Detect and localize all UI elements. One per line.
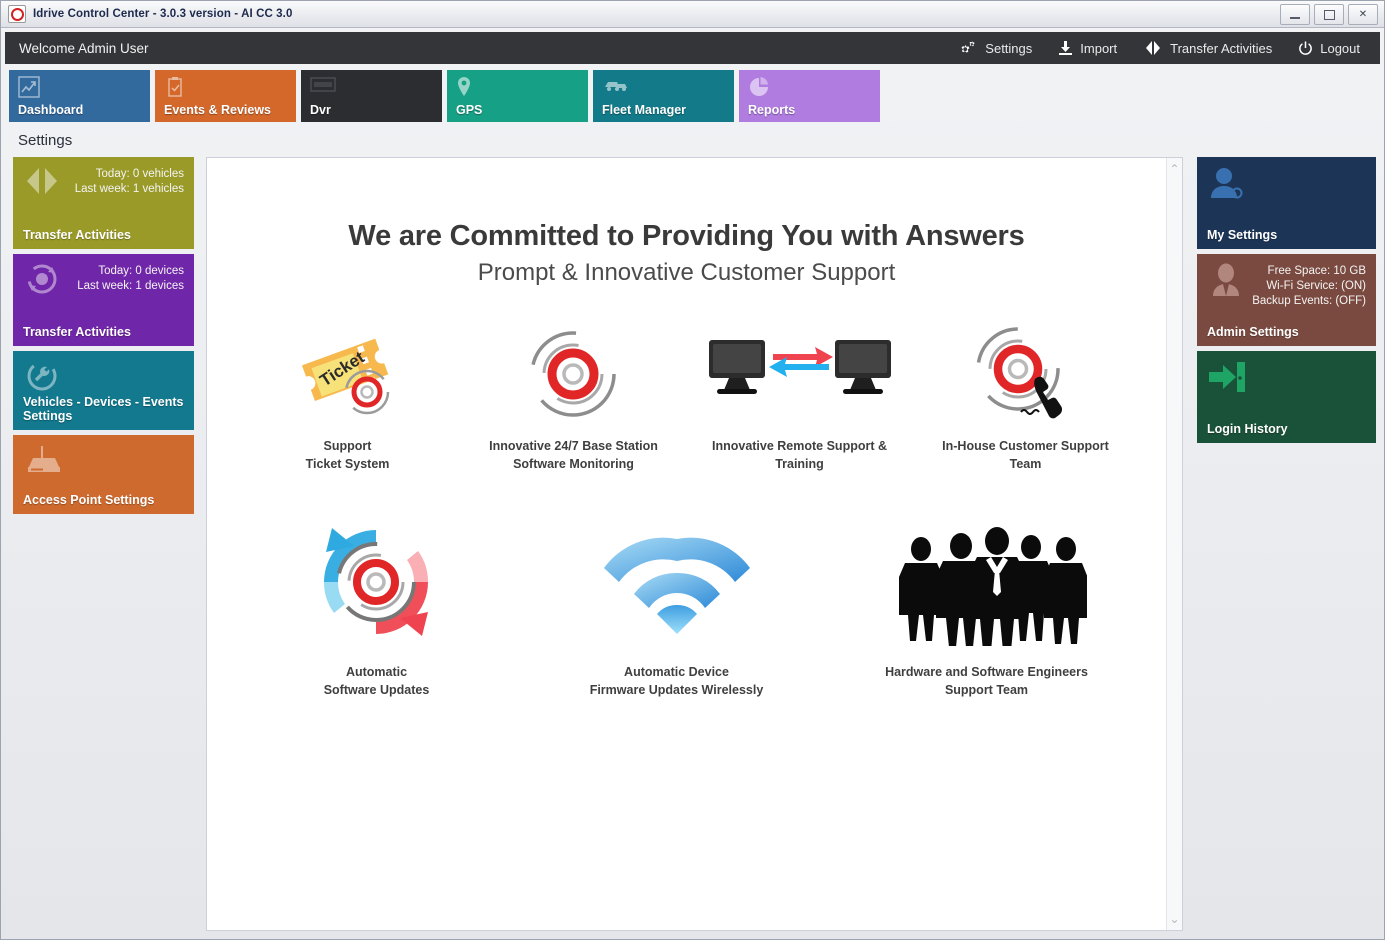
top-nav-transfer-label: Transfer Activities [1170,41,1272,56]
two-monitors-arrows-icon [691,321,909,427]
wrench-icon [23,359,61,398]
title-bar: Idrive Control Center - 3.0.3 version - … [1,1,1384,28]
welcome-label: Welcome Admin User [19,41,959,56]
feature-remote-support-training: Innovative Remote Support & Training [687,321,913,473]
vehicles-icon [602,76,734,98]
feature-caption: Automatic Software Updates [231,663,523,699]
admin-user-icon [1207,262,1245,303]
feature-base-station-monitoring: Innovative 24/7 Base Station Software Mo… [461,321,687,473]
feature-caption: In-House Customer Support Team [917,437,1135,473]
pie-chart-icon [748,76,880,98]
map-pin-icon [456,76,588,98]
target-rings-icon [465,321,683,427]
tab-reports[interactable]: Reports [739,70,880,122]
feature-grid: Ticket Support Ticket System [207,321,1166,699]
tab-events-reviews-label: Events & Reviews [164,103,271,117]
chevron-up-icon[interactable]: ⌃ [1169,164,1179,174]
top-nav-logout-label: Logout [1320,41,1360,56]
feature-support-ticket-system: Ticket Support Ticket System [235,321,461,473]
sidebar-item-transfer-activities-vehicles[interactable]: Today: 0 vehicles Last week: 1 vehicles … [13,157,194,249]
chart-line-icon [18,76,150,98]
feature-row-2: Automatic Software Updates [207,513,1166,699]
page-title: We are Committed to Providing You with A… [207,220,1166,253]
sidebar-item-label: Admin Settings [1207,325,1366,339]
main-content-panel: We are Committed to Providing You with A… [206,157,1183,931]
right-sidebar: My Settings Free Space: 10 GB Wi-Fi Serv… [1197,157,1376,931]
gears-icon [959,40,978,57]
window-title: Idrive Control Center - 3.0.3 version - … [33,8,292,20]
top-nav-import-label: Import [1080,41,1117,56]
sidebar-item-label: Transfer Activities [23,325,184,339]
feature-caption: Support Ticket System [239,437,457,473]
power-icon [1298,41,1313,56]
content-area: We are Committed to Providing You with A… [207,158,1166,930]
left-sidebar: Today: 0 vehicles Last week: 1 vehicles … [13,157,194,931]
login-arrow-icon [1207,359,1247,400]
sidebar-item-admin-settings[interactable]: Free Space: 10 GB Wi-Fi Service: (ON) Ba… [1197,254,1376,346]
top-nav-settings[interactable]: Settings [959,40,1032,57]
wifi-signal-icon [531,513,823,653]
feature-caption: Innovative Remote Support & Training [691,437,909,473]
download-icon [1058,40,1073,56]
tab-gps[interactable]: GPS [447,70,588,122]
top-nav-import[interactable]: Import [1058,40,1117,56]
target-phone-icon [917,321,1135,427]
top-bar: Welcome Admin User Settings [5,32,1380,64]
application-window: Idrive Control Center - 3.0.3 version - … [0,0,1385,940]
feature-in-house-support-team: In-House Customer Support Team [913,321,1139,473]
close-icon[interactable]: ✕ [1348,4,1378,25]
sidebar-item-label: Transfer Activities [23,228,184,242]
feature-engineers-support-team: Hardware and Software Engineers Support … [827,513,1147,699]
sidebar-item-vehicles-devices-events-settings[interactable]: Vehicles - Devices - Events Settings [13,351,194,430]
feature-row-1: Ticket Support Ticket System [207,321,1166,473]
sidebar-item-access-point-settings[interactable]: Access Point Settings [13,435,194,514]
top-nav-settings-label: Settings [985,41,1032,56]
feature-caption: Hardware and Software Engineers Support … [831,663,1143,699]
tab-fleet-manager-label: Fleet Manager [602,103,686,117]
tab-dashboard[interactable]: Dashboard [9,70,150,122]
content-scrollbar[interactable]: ⌃ ⌄ [1166,158,1182,930]
sync-circle-icon [23,262,61,301]
router-icon [23,443,67,482]
support-ticket-icon: Ticket [239,321,457,427]
window-controls: ✕ [1280,4,1378,25]
user-gear-icon [1207,165,1245,206]
top-nav-logout[interactable]: Logout [1298,41,1360,56]
tab-dvr-label: Dvr [310,103,331,117]
clipboard-check-icon [164,76,296,98]
tab-dvr[interactable]: Dvr [301,70,442,122]
breadcrumb: Settings [1,122,1384,157]
main-tabs: Dashboard Events & Reviews Dvr GPS Fleet [1,64,1384,122]
sidebar-item-my-settings[interactable]: My Settings [1197,157,1376,249]
sidebar-item-label: Access Point Settings [23,493,184,507]
tab-fleet-manager[interactable]: Fleet Manager [593,70,734,122]
feature-caption: Innovative 24/7 Base Station Software Mo… [465,437,683,473]
sidebar-item-label: Vehicles - Devices - Events Settings [23,395,184,423]
page-body: Today: 0 vehicles Last week: 1 vehicles … [1,157,1384,939]
tab-reports-label: Reports [748,103,795,117]
transfer-arrows-icon [1143,40,1163,56]
tab-gps-label: GPS [456,103,482,117]
feature-automatic-software-updates: Automatic Software Updates [227,513,527,699]
content-headline: We are Committed to Providing You with A… [207,220,1166,287]
feature-device-firmware-updates: Automatic Device Firmware Updates Wirele… [527,513,827,699]
dvr-icon [310,76,442,98]
feature-caption: Automatic Device Firmware Updates Wirele… [531,663,823,699]
page-subtitle: Prompt & Innovative Customer Support [207,259,1166,287]
sidebar-item-label: My Settings [1207,228,1366,242]
minimize-icon[interactable] [1280,4,1310,25]
tab-dashboard-label: Dashboard [18,103,83,117]
sidebar-item-label: Login History [1207,422,1366,436]
transfer-arrows-icon [23,165,61,202]
sidebar-item-transfer-activities-devices[interactable]: Today: 0 devices Last week: 1 devices Tr… [13,254,194,346]
top-nav-transfer-activities[interactable]: Transfer Activities [1143,40,1272,56]
chevron-down-icon[interactable]: ⌄ [1169,914,1179,924]
team-silhouette-icon [831,513,1143,653]
target-logo-icon [8,5,26,23]
sidebar-item-login-history[interactable]: Login History [1197,351,1376,443]
top-nav: Settings Import Transf [959,40,1370,57]
tab-events-reviews[interactable]: Events & Reviews [155,70,296,122]
refresh-target-icon [231,513,523,653]
maximize-icon[interactable] [1314,4,1344,25]
